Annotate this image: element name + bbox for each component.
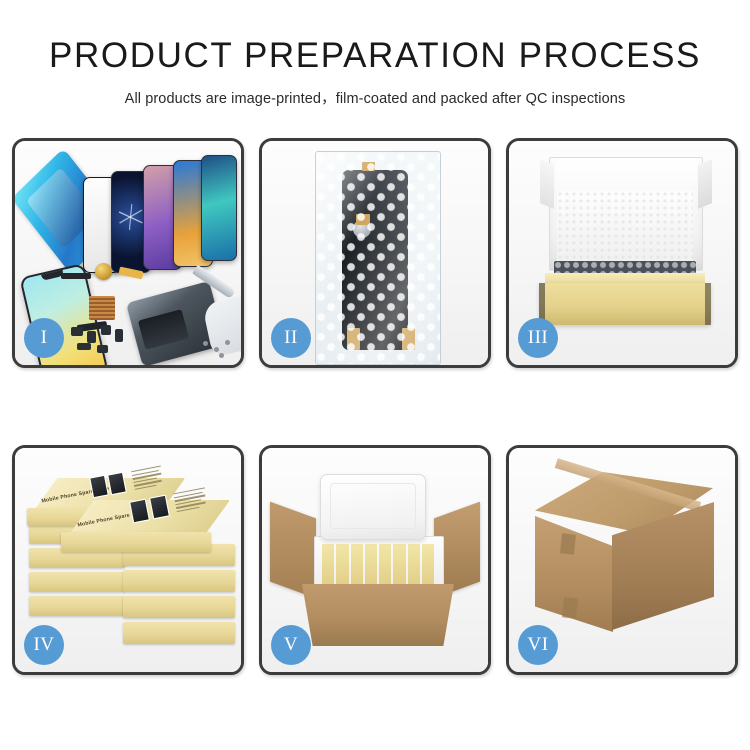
carton-seam-icon [560,533,576,554]
step-badge-2: II [271,318,311,358]
part-module-icon [115,329,123,342]
yellow-box-icon [351,544,363,586]
yellow-boxes-group [322,544,434,586]
yellow-box-icon [336,544,348,586]
process-step-panel-6[interactable]: VI [506,445,738,675]
part-bracket-icon [77,343,91,350]
carton-body-icon [302,584,454,646]
step-badge-4: IV [24,625,64,665]
yellow-box-icon [322,544,334,586]
stacked-box-icon [29,572,125,592]
yellow-box-icon [379,544,391,586]
stacked-box-icon [123,622,235,644]
process-step-panel-3[interactable]: III [506,138,738,368]
process-step-panel-1[interactable]: I [12,138,244,368]
stacked-box-icon [61,532,211,552]
screw-icon [219,353,224,358]
foam-sheet-icon [557,191,693,263]
part-chip-icon [71,327,83,336]
process-step-panel-2[interactable]: II [259,138,491,368]
carton-flap-left-icon [270,502,316,599]
small-parts-group [71,313,131,355]
foam-lid-icon [320,474,426,540]
screw-icon [214,347,219,352]
copper-coil-icon [95,263,112,280]
phone-lineup-group [83,155,233,280]
plastic-sheen-icon [316,152,440,364]
yellow-box-icon [365,544,377,586]
part-gold-contact-icon [101,325,111,335]
stacked-box-icon [29,596,125,616]
yellow-box-icon [422,544,434,586]
carton-seam-icon [562,597,578,618]
process-step-panel-5[interactable]: V [259,445,491,675]
speaker-strip-icon [61,273,91,279]
page-title: PRODUCT PREPARATION PROCESS [0,38,750,75]
step-badge-1: I [24,318,64,358]
process-step-grid: I II III [12,138,738,675]
stacked-box-icon [123,570,235,592]
yellow-box-icon [393,544,405,586]
process-step-panel-4[interactable]: Mobile Phone Spare Parts Mobile Phone Sp… [12,445,244,675]
step-badge-3: III [518,318,558,358]
page-subtitle: All products are image-printed，film-coat… [0,87,750,108]
box-print-phone-image [107,472,127,496]
bubble-wrap-bag-icon [315,151,441,365]
screw-icon [225,340,230,345]
screw-icon [203,341,208,346]
step-badge-5: V [271,625,311,665]
cracked-glass-icon [118,204,144,230]
step-badge-6: VI [518,625,558,665]
screws-group [201,339,235,357]
part-connector-icon [87,331,96,343]
part-button-icon [97,345,108,353]
page-header: PRODUCT PREPARATION PROCESS All products… [0,0,750,108]
yellow-box-icon [408,544,420,586]
yellow-box-tray-icon [539,283,711,325]
stacked-box-icon [123,596,235,618]
phone-teal-screen-icon [201,155,237,261]
